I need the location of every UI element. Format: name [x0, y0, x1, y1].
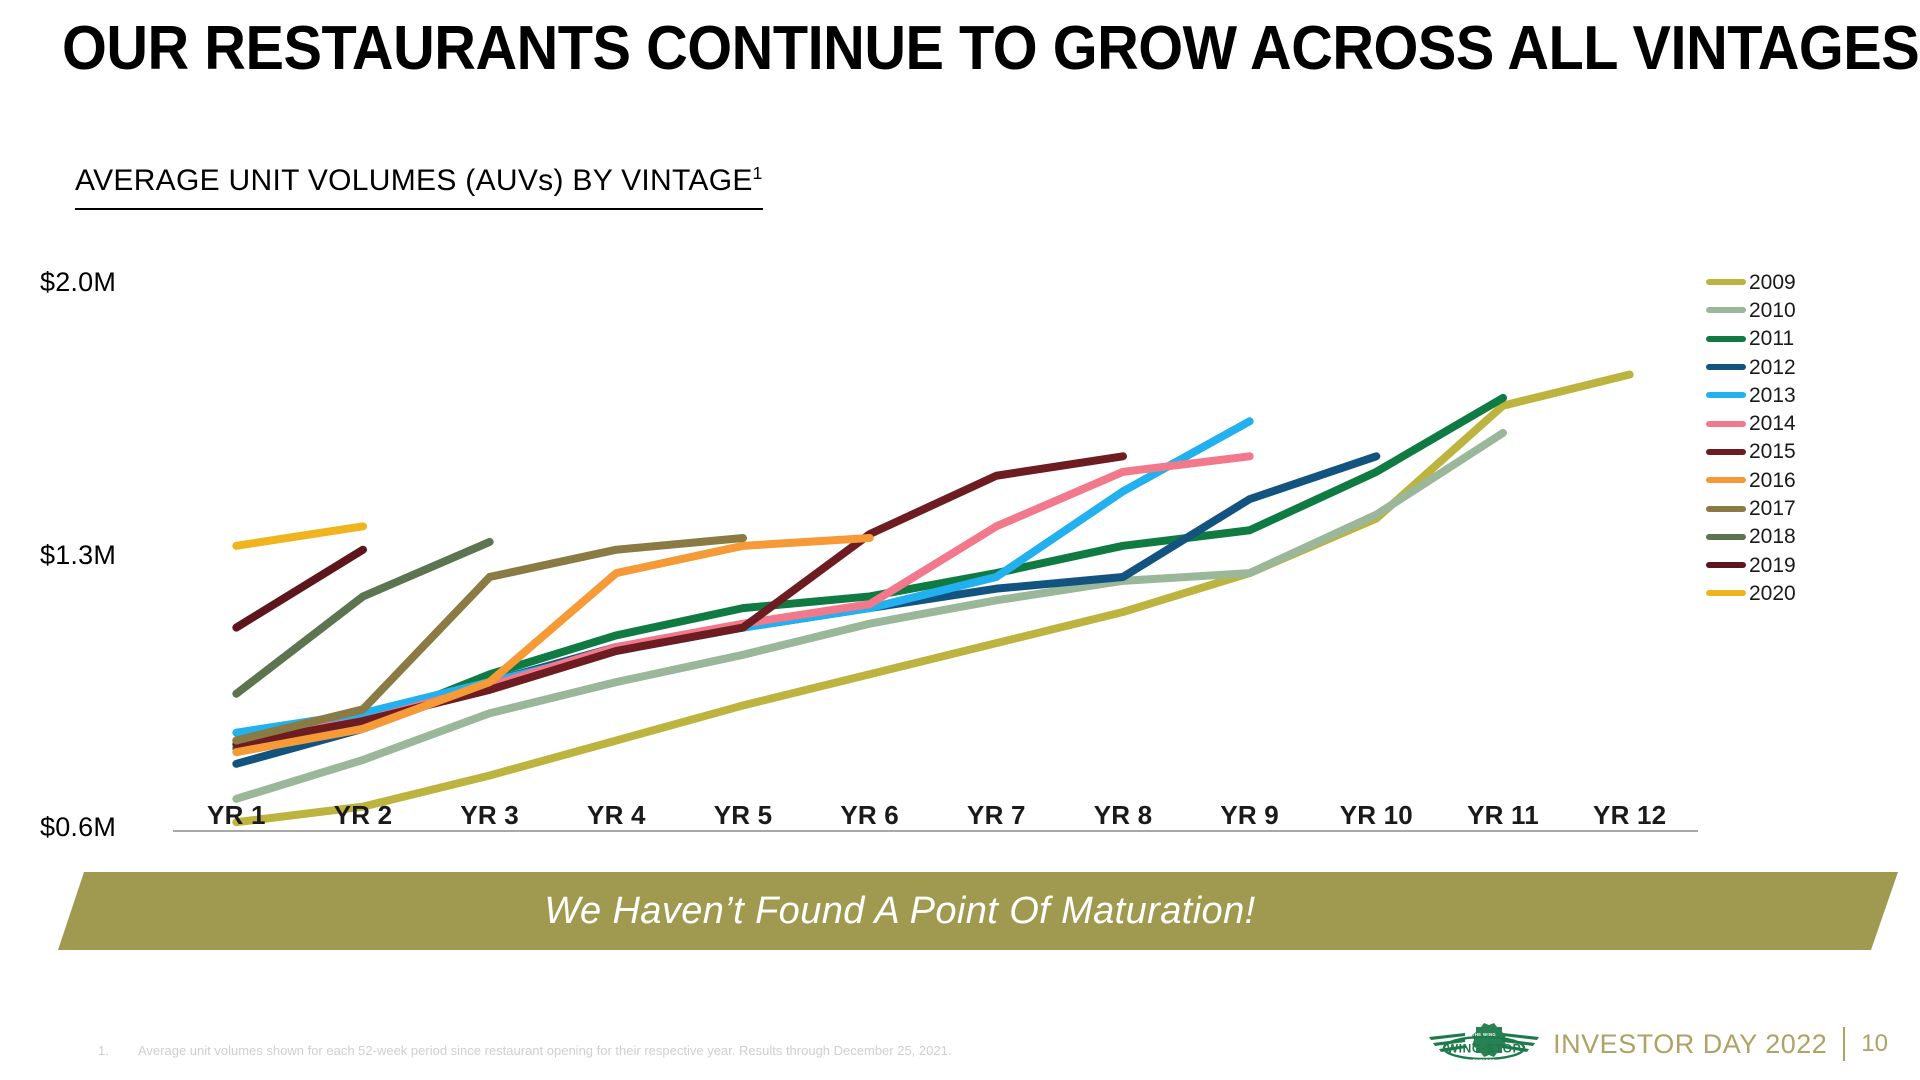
x-axis-tick-label: YR 8: [1094, 800, 1153, 831]
legend-item-2016[interactable]: 2016: [1706, 466, 1896, 494]
legend-swatch-icon: [1706, 449, 1746, 455]
legend-item-label: 2009: [1749, 272, 1796, 293]
x-axis-tick-label: YR 5: [714, 800, 773, 831]
legend-item-2012[interactable]: 2012: [1706, 353, 1896, 381]
svg-text:EXPERTS: EXPERTS: [1473, 1058, 1495, 1063]
footnote-number: 1.: [98, 1043, 138, 1058]
legend-swatch-icon: [1706, 506, 1746, 512]
legend-swatch-icon: [1706, 364, 1746, 370]
legend-item-label: 2018: [1749, 526, 1796, 547]
legend-item-label: 2013: [1749, 385, 1796, 406]
legend-item-2011[interactable]: 2011: [1706, 325, 1896, 353]
page-number: 10: [1861, 1030, 1892, 1058]
chart-line-2010: [236, 433, 1503, 799]
x-axis-tick-label: YR 10: [1340, 800, 1413, 831]
legend-item-label: 2012: [1749, 357, 1796, 378]
legend-item-2018[interactable]: 2018: [1706, 523, 1896, 551]
legend-item-2017[interactable]: 2017: [1706, 494, 1896, 522]
chart-subtitle: AVERAGE UNIT VOLUMES (AUVs) BY VINTAGE1: [75, 163, 763, 210]
legend-item-2009[interactable]: 2009: [1706, 268, 1896, 296]
legend-item-label: 2017: [1749, 498, 1796, 519]
legend-swatch-icon: [1706, 307, 1746, 313]
x-axis-tick-label: YR 6: [840, 800, 899, 831]
chart-container: $2.0M$1.3M$0.6M YR 1YR 2YR 3YR 4YR 5YR 6…: [0, 240, 1920, 860]
legend-item-2020[interactable]: 2020: [1706, 579, 1896, 607]
x-axis-tick-label: YR 2: [334, 800, 393, 831]
legend-swatch-icon: [1706, 421, 1746, 427]
slide-root: OUR RESTAURANTS CONTINUE TO GROW ACROSS …: [0, 0, 1920, 1080]
svg-text:THE WING: THE WING: [1472, 1032, 1496, 1037]
chart-subtitle-container: AVERAGE UNIT VOLUMES (AUVs) BY VINTAGE1: [75, 163, 763, 210]
x-axis-tick-label: YR 12: [1593, 800, 1666, 831]
legend-item-2014[interactable]: 2014: [1706, 409, 1896, 437]
y-axis-tick-label: $2.0M: [40, 267, 116, 298]
legend-item-label: 2015: [1749, 441, 1796, 462]
subtitle-footnote-marker: 1: [753, 163, 763, 183]
x-axis-tick-label: YR 1: [207, 800, 266, 831]
x-axis-tick-label: YR 7: [967, 800, 1026, 831]
x-axis-tick-label: YR 4: [587, 800, 646, 831]
legend-swatch-icon: [1706, 534, 1746, 540]
legend-swatch-icon: [1706, 392, 1746, 398]
x-axis-tick-label: YR 3: [460, 800, 519, 831]
legend-item-label: 2020: [1749, 583, 1796, 604]
svg-text:WING·STOP: WING·STOP: [1447, 1042, 1522, 1056]
legend-item-2019[interactable]: 2019: [1706, 551, 1896, 579]
footer-brand: WING·STOP THE WING EXPERTS INVESTOR DAY …: [1425, 1018, 1892, 1070]
legend-item-label: 2016: [1749, 470, 1796, 491]
line-chart-svg: [173, 285, 1693, 830]
footnote-text: Average unit volumes shown for each 52-w…: [138, 1043, 951, 1058]
wingstop-logo-icon: WING·STOP THE WING EXPERTS: [1425, 1019, 1543, 1069]
footer-event-label: INVESTOR DAY 2022: [1553, 1029, 1827, 1060]
callout-banner: We Haven’t Found A Point Of Maturation!: [58, 872, 1898, 950]
legend-item-label: 2014: [1749, 413, 1796, 434]
y-axis-tick-label: $0.6M: [40, 812, 116, 843]
callout-banner-text: We Haven’t Found A Point Of Maturation!: [544, 890, 1255, 933]
legend-swatch-icon: [1706, 562, 1746, 568]
legend-item-2010[interactable]: 2010: [1706, 296, 1896, 324]
legend-item-label: 2011: [1749, 328, 1794, 349]
x-axis-tick-label: YR 9: [1220, 800, 1279, 831]
x-axis-tick-label: YR 11: [1467, 800, 1539, 831]
legend-swatch-icon: [1706, 279, 1746, 285]
legend-item-2015[interactable]: 2015: [1706, 438, 1896, 466]
chart-line-2020: [236, 526, 363, 545]
legend-item-label: 2019: [1749, 555, 1796, 576]
legend-swatch-icon: [1706, 477, 1746, 483]
footnote: 1. Average unit volumes shown for each 5…: [98, 1043, 951, 1058]
x-axis-labels: YR 1YR 2YR 3YR 4YR 5YR 6YR 7YR 8YR 9YR 1…: [173, 800, 1693, 846]
chart-subtitle-text: AVERAGE UNIT VOLUMES (AUVs) BY VINTAGE: [75, 164, 753, 197]
chart-line-2014: [236, 456, 1249, 740]
legend-swatch-icon: [1706, 336, 1746, 342]
legend-swatch-icon: [1706, 590, 1746, 596]
footer-divider: [1843, 1027, 1845, 1061]
y-axis-tick-label: $1.3M: [40, 540, 116, 571]
legend-item-2013[interactable]: 2013: [1706, 381, 1896, 409]
chart-legend: 2009201020112012201320142015201620172018…: [1706, 268, 1896, 608]
page-title: OUR RESTAURANTS CONTINUE TO GROW ACROSS …: [62, 18, 1736, 80]
legend-item-label: 2010: [1749, 300, 1796, 321]
plot-area: [173, 285, 1693, 830]
